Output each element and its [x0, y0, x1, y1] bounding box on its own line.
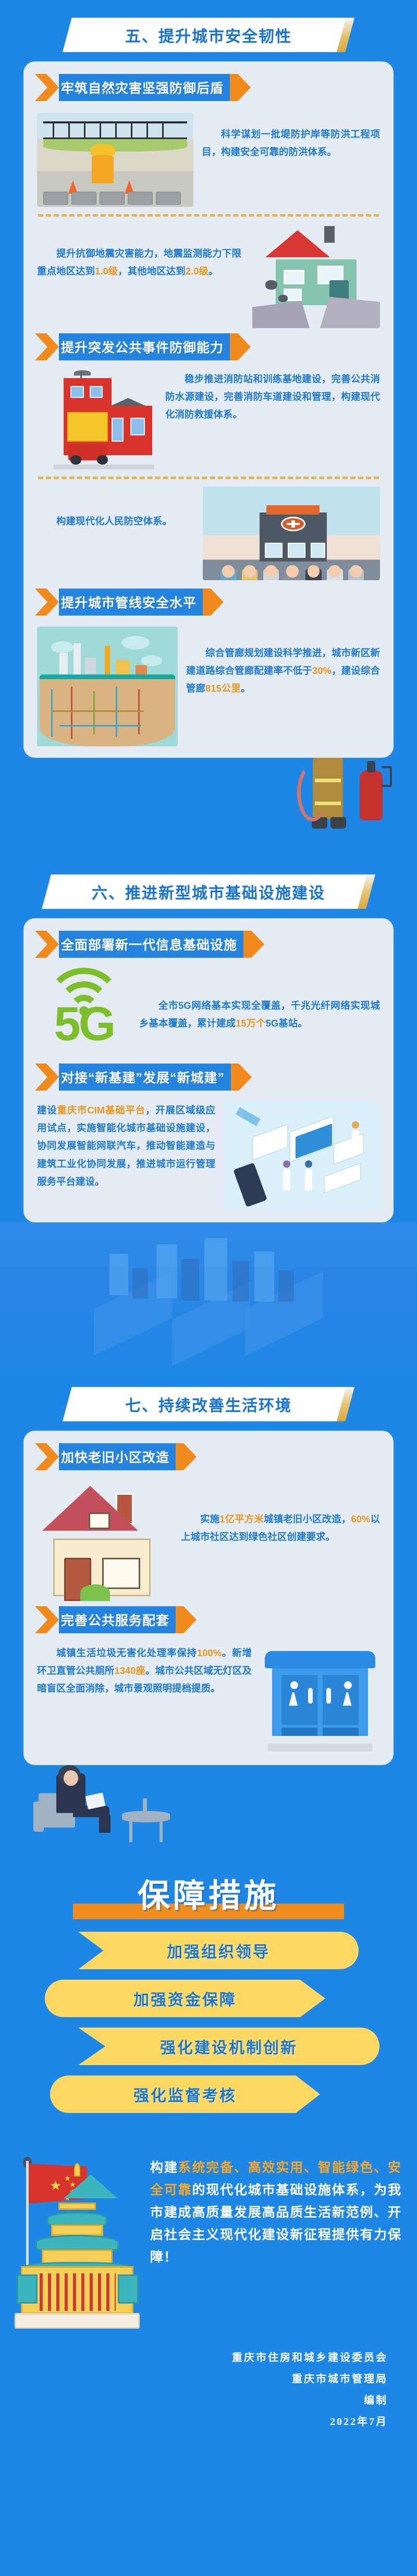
- figure: [283, 1169, 290, 1190]
- sandbag: [156, 192, 181, 205]
- subsection-bar: 提升城市管线安全水平: [59, 589, 204, 616]
- civil-defense-illustration: [203, 486, 380, 580]
- fire-station-illustration: [37, 370, 157, 469]
- entrance-step: [267, 1744, 373, 1752]
- truck-wheel: [97, 455, 108, 464]
- rail-post: [53, 121, 54, 137]
- flood-text: 科学谋划一批堤防护岸等防洪工程项目，构建安全可靠的防洪体系。: [202, 113, 380, 161]
- extinguisher-handle: [381, 766, 392, 787]
- person-lower-leg: [99, 1813, 111, 1833]
- truck-wheel: [70, 455, 81, 464]
- card-section-6: 全面部署新一代信息基础设施 5G 全市5G网络基本实现全覆盖，千兆光纤网络实现城…: [23, 918, 394, 1222]
- lamp-icon: [74, 370, 91, 376]
- hall-wing-left: [17, 2274, 38, 2304]
- crowd-person-head: [286, 565, 299, 577]
- block-earthquake: 提升抗御地震灾害能力，地震监测能力下限重点地区达到1.0级，其他地区达到2.0级…: [23, 224, 394, 328]
- falling-rock: [265, 280, 277, 290]
- chevron-left-icon: [35, 931, 59, 958]
- cloud: [121, 636, 150, 649]
- pipeline-hl-a: 30%: [312, 665, 332, 676]
- center-roof-accent: [266, 505, 320, 515]
- bush-icon: [80, 1584, 110, 1601]
- armchair-arm: [33, 1802, 44, 1832]
- window: [130, 418, 145, 435]
- chevron-right-icon: [243, 931, 264, 958]
- city-building: [156, 1244, 177, 1298]
- roof-tier: [51, 2224, 103, 2236]
- block-renovation: 实施1亿平方米城镇老旧小区改造，60%以上城市社区达到绿色社区创建要求。: [23, 1481, 394, 1601]
- renovation-text-a: 实施: [200, 1514, 219, 1524]
- block-fire: 稳步推进消防站和训练基地建设，完善公共消防水源建设，完善消防车道建设和管理，构建…: [23, 370, 394, 469]
- accent-strip: [281, 1728, 317, 1736]
- section-title-6: 六、推进新型城市基础设施建设: [92, 880, 325, 903]
- figure: [352, 1130, 359, 1150]
- chevron-left-icon: [35, 1064, 59, 1091]
- fire-hose-icon: [297, 764, 328, 821]
- footer-line-4: 2022年7月: [0, 2411, 388, 2433]
- upper-eave: [47, 2212, 107, 2225]
- subsection-title-pipeline-safety: 提升城市管线安全水平: [61, 593, 197, 611]
- worker-helmet-icon: [90, 144, 115, 155]
- sanitation-text: 城镇生活垃圾无害化处理率保持100%。新增环卫直管公共厕所1340座。城市公共区…: [37, 1644, 252, 1698]
- firefighter-boot: [330, 817, 346, 829]
- footer-attribution: 重庆市住房和城乡建设委员会 重庆市城市管理局 编制 2022年7月: [0, 2334, 417, 2458]
- door-window: [112, 418, 124, 442]
- closing-text-a: 构建: [150, 2160, 178, 2175]
- chevron-left-icon: [35, 333, 59, 360]
- smartphone-icon: [233, 1162, 267, 1207]
- fire-extinguisher-icon: [360, 770, 383, 820]
- subsection-title-old-community: 加快老旧小区改造: [61, 1447, 169, 1466]
- pipe: [51, 689, 53, 737]
- public-toilet-illustration: [260, 1644, 380, 1754]
- measures-list: 强化监督考核: [0, 2075, 417, 2113]
- subsection-header-new-urban: 对接“新基建”发展“新城建”: [35, 1064, 252, 1091]
- cloud: [141, 655, 163, 666]
- table-leg: [160, 1819, 163, 1842]
- footer-line-3: 编制: [0, 2390, 388, 2411]
- block-cim: 建设重庆市CIM基础平台，开展区域级应用试点，实施智能化城市基础设施建设，协同发…: [23, 1102, 394, 1211]
- measure-ribbon-2[interactable]: 加强资金保障: [45, 1980, 325, 2017]
- chevron-left-icon: [35, 74, 59, 101]
- rail-post: [115, 121, 117, 137]
- section-header-5: 五、提升城市安全韧性: [63, 18, 354, 52]
- figure-head: [283, 1160, 290, 1168]
- subsection-header-disaster-defense: 牢筑自然灾害坚强防御后盾: [35, 74, 251, 101]
- pipe: [59, 725, 141, 727]
- earthquake-text-c: 。: [208, 266, 218, 277]
- subsection-header-public-service: 完善公共服务配套: [35, 1606, 197, 1633]
- window: [90, 386, 103, 398]
- sandbag: [128, 192, 153, 205]
- subsection-title-info-infra: 全面部署新一代信息基础设施: [61, 935, 237, 954]
- 5g-hl-a: 15万个: [236, 1018, 266, 1029]
- section-title-5: 五、提升城市安全韧性: [125, 23, 292, 46]
- cim-platform-illustration: [224, 1102, 380, 1211]
- figure-head: [352, 1121, 359, 1129]
- rail-post: [68, 121, 70, 137]
- person-head: [64, 1770, 78, 1786]
- crowd-person-head: [350, 565, 362, 577]
- figure-male-icon: [308, 1688, 313, 1704]
- section-gap: [0, 1379, 417, 1387]
- window: [288, 543, 305, 558]
- figure-head: [305, 1160, 312, 1168]
- city-building: [204, 1238, 227, 1300]
- hall-wing-right: [118, 2274, 139, 2304]
- sandbag: [43, 192, 68, 205]
- flag-and-great-hall-illustration: ★ ★ ★ ★ ★: [13, 2157, 143, 2329]
- block-5g: 5G 全市5G网络基本实现全覆盖，千兆光纤网络实现城乡基本覆盖，累计建成15万个…: [23, 968, 394, 1056]
- chevron-right-icon: [176, 1443, 197, 1470]
- measure-label-2: 加强资金保障: [133, 1987, 237, 2010]
- falling-rock: [278, 295, 288, 302]
- cim-hl-a: 重庆市CIM基础平台: [57, 1105, 145, 1116]
- smart-city-isometric-banner: [0, 1222, 417, 1379]
- renovation-hl-b: 60%: [351, 1514, 370, 1524]
- window: [70, 386, 83, 398]
- top-spacer: [0, 0, 417, 18]
- measures-list: 加强组织领导: [0, 1932, 417, 1969]
- section-header-6: 六、推进新型城市基础设施建设: [42, 874, 375, 909]
- railing-bottom: [43, 137, 187, 139]
- window: [311, 543, 325, 558]
- pipeline-text-c: 。: [241, 683, 251, 694]
- chevron-right-icon: [203, 589, 224, 616]
- roof-tier: [58, 2203, 96, 2210]
- ground-base: [54, 465, 154, 470]
- closing-block: ★ ★ ★ ★ ★ 构建系统完备、高效实用、智能绿色、安全可靠的现代化城市基础设…: [0, 2141, 417, 2334]
- earthquake-hl-b: 2.0级: [186, 266, 208, 277]
- divider-dashed: [38, 214, 379, 217]
- block-pipeline: 综合管廊规划建设科学推进，城市新区新建道路综合管廊配建率不低于30%，建设综合管…: [23, 627, 394, 746]
- sanitation-hl-a: 100%: [197, 1647, 222, 1658]
- cloud: [51, 641, 73, 653]
- glass-stem: [143, 1798, 147, 1813]
- closing-statement: 构建系统完备、高效实用、智能绿色、安全可靠的现代化城市基础设施体系，为我市建成高…: [150, 2157, 401, 2269]
- pipe: [51, 710, 144, 712]
- renovation-hl-a: 1亿平方米: [219, 1514, 264, 1524]
- figure-male-icon: [326, 1688, 331, 1704]
- subsection-title-public-service: 完善公共服务配套: [61, 1610, 169, 1629]
- section-header-7: 七、持续改善生活环境: [63, 1387, 354, 1421]
- subsection-bar: 加快老旧小区改造: [59, 1443, 177, 1470]
- sanitation-hl-b: 1340座: [114, 1665, 145, 1676]
- garage-door: [67, 412, 108, 442]
- sandbag: [71, 192, 96, 205]
- earthquake-text-b: ，其他地区达到: [118, 266, 186, 277]
- chevron-right-icon: [230, 74, 251, 101]
- server-stack: [252, 1123, 288, 1160]
- ground-right-fracture: [320, 297, 380, 328]
- subsection-header-info-infra: 全面部署新一代信息基础设施: [35, 931, 264, 958]
- pipeline-hl-b: 815公里: [205, 683, 241, 694]
- subsection-bar: 完善公共服务配套: [59, 1606, 177, 1633]
- red-roof: [265, 230, 330, 257]
- ground-left-fracture: [252, 301, 310, 328]
- figure-head-female: [290, 1681, 298, 1689]
- rail-post: [100, 121, 101, 137]
- cim-text-b: ，开展区域级应用试点，实施智能化城市基础设施建设，协同发展智能网联汽车，推动智能…: [37, 1105, 215, 1187]
- 5g-text: 全市5G网络基本实现全覆盖，千兆光纤网络实现城乡基本覆盖，累计建成15万个5G基…: [139, 992, 380, 1032]
- cracked-house-illustration: [250, 224, 380, 328]
- window: [102, 1558, 140, 1589]
- subsection-bar: 全面部署新一代信息基础设施: [59, 931, 244, 958]
- flag-star-large: ★: [50, 2179, 62, 2192]
- cim-text: 建设重庆市CIM基础平台，开展区域级应用试点，实施智能化城市基础设施建设，协同发…: [37, 1102, 215, 1191]
- hall-pillars: [40, 2273, 116, 2311]
- extinguisher-nozzle: [367, 761, 375, 772]
- hall-base: [15, 2313, 140, 2329]
- 5g-text-b: 5G基站。: [266, 1018, 308, 1029]
- measures-list: 加强资金保障: [0, 1980, 417, 2017]
- pipeline-text: 综合管廊规划建设科学推进，城市新区新建道路综合管廊配建率不低于30%，建设综合管…: [186, 627, 380, 698]
- chevron-left-icon: [35, 589, 59, 616]
- card-section-7: 加快老旧小区改造 实施1亿平方米城镇老旧小区改造，60%以上城市社区达到绿色社区…: [23, 1431, 394, 1765]
- sandbag: [100, 192, 125, 205]
- reading-person-illustration: [0, 1765, 417, 1854]
- subsection-title-new-urban: 对接“新基建”发展“新城建”: [61, 1068, 225, 1086]
- window: [265, 543, 283, 558]
- measure-label-3: 强化建设机制创新: [160, 2035, 298, 2058]
- section-gap: [0, 857, 417, 874]
- pipe: [93, 691, 95, 734]
- rail-post: [162, 121, 164, 137]
- window: [284, 270, 304, 284]
- measures-list: 强化建设机制创新: [0, 2028, 417, 2065]
- subsection-title-disaster-defense: 牢筑自然灾害坚强防御后盾: [61, 78, 224, 97]
- chevron-right-icon: [230, 333, 251, 360]
- measure-ribbon-3[interactable]: 强化建设机制创新: [78, 2028, 379, 2065]
- earthquake-text: 提升抗御地震灾害能力，地震监测能力下限重点地区达到1.0级，其他地区达到2.0级…: [37, 224, 241, 280]
- sanitation-text-a: 城镇生活垃圾无害化处理率保持: [56, 1647, 197, 1658]
- renovation-text: 实施1亿平方米城镇老旧小区改造，60%以上城市社区达到绿色社区创建要求。: [181, 1481, 380, 1546]
- measure-label-4: 强化监督考核: [133, 2083, 237, 2106]
- crowd-person-head: [328, 565, 341, 577]
- footer-line-2: 重庆市城市管理局: [0, 2369, 388, 2390]
- section-title-7: 七、持续改善生活环境: [125, 1393, 292, 1416]
- subsection-title-public-emergency: 提升突发公共事件防御能力: [61, 337, 224, 356]
- flagpole: [26, 2161, 29, 2281]
- earthquake-hl-a: 1.0级: [95, 266, 118, 277]
- attic-window: [89, 1512, 111, 1529]
- city-building: [132, 1268, 148, 1298]
- figure: [305, 1169, 312, 1190]
- guarantee-title: 保障措施: [138, 1869, 279, 1916]
- rail-post: [131, 121, 132, 137]
- measure-label-1: 加强组织领导: [167, 1939, 270, 1962]
- divider-dashed: [38, 477, 379, 479]
- footer-line-1: 重庆市住房和城乡建设委员会: [0, 2347, 388, 2369]
- city-building: [278, 1270, 294, 1302]
- civil-defense-text: 构建现代化人民防空体系。: [37, 486, 194, 530]
- table-leg: [129, 1819, 132, 1842]
- subsection-bar: 牢筑自然灾害坚强防御后盾: [59, 74, 231, 101]
- cim-text-a: 建设: [37, 1105, 57, 1116]
- subsection-header-public-emergency: 提升突发公共事件防御能力: [35, 333, 251, 360]
- renovation-text-b: 城镇老旧小区改造，: [264, 1514, 351, 1524]
- guarantee-title-block: 保障措施: [0, 1854, 417, 1932]
- pagoda-dome: [64, 2174, 118, 2198]
- city-building: [109, 1254, 128, 1295]
- measure-ribbon-4[interactable]: 强化监督考核: [50, 2075, 320, 2113]
- rail-post: [84, 121, 85, 137]
- satellite-icon: [236, 1107, 261, 1127]
- infographic-page: 五、提升城市安全韧性 牢筑自然灾害坚强防御后盾: [0, 0, 417, 2576]
- closing-gap: [0, 2123, 417, 2141]
- soil-cross-section: [40, 679, 175, 746]
- building: [203, 528, 217, 580]
- pipe: [71, 686, 72, 739]
- block-sanitation: 城镇生活垃圾无害化处理率保持100%。新增环卫直管公共厕所1340座。城市公共区…: [23, 1644, 394, 1754]
- crowd-person-head: [243, 565, 256, 577]
- block-flood: 科学谋划一批堤防护岸等防洪工程项目，构建安全可靠的防洪体系。: [23, 113, 394, 207]
- moss-layer: [43, 139, 187, 151]
- crowd-person-head: [265, 565, 277, 577]
- worker-body: [92, 155, 114, 183]
- crowd-person-head: [222, 565, 235, 577]
- 5g-wordmark: 5G: [37, 997, 131, 1052]
- card-section-5: 牢筑自然灾害坚强防御后盾: [23, 61, 394, 758]
- subsection-header-old-community: 加快老旧小区改造: [35, 1443, 197, 1470]
- subsection-bar: 对接“新基建”发展“新城建”: [59, 1064, 232, 1091]
- chevron-right-icon: [176, 1606, 197, 1633]
- city-building: [232, 1261, 249, 1302]
- panel: [333, 1133, 364, 1165]
- subsection-bar: 提升突发公共事件防御能力: [59, 333, 231, 360]
- flood-embankment-illustration: [37, 113, 193, 207]
- city-building: [181, 1259, 199, 1300]
- chevron-left-icon: [35, 1606, 59, 1633]
- underground-pipeline-illustration: [37, 627, 178, 746]
- accent-strip: [323, 1728, 359, 1736]
- panel: [324, 1162, 361, 1194]
- fire-text: 稳步推进消防站和训练基地建设，完善公共消防水源建设，完善消防车道建设和管理，构建…: [165, 370, 380, 424]
- 5g-signal-logo: 5G: [37, 968, 131, 1056]
- subsection-header-pipeline-safety: 提升城市管线安全水平: [35, 589, 224, 616]
- toilet-roof: [265, 1651, 375, 1669]
- crowd-person-head: [308, 565, 320, 577]
- old-house-illustration: [37, 1481, 173, 1601]
- middle-eave: [35, 2235, 119, 2250]
- rail-post: [146, 121, 148, 137]
- chevron-right-icon: [231, 1064, 252, 1091]
- smokestack: [73, 643, 81, 679]
- measure-ribbon-1[interactable]: 加强组织领导: [78, 1932, 359, 1969]
- block-civil-defense: 构建现代化人民防空体系。: [23, 486, 394, 580]
- city-building: [254, 1252, 274, 1302]
- firefighter-illustration: [0, 758, 417, 857]
- building: [203, 486, 220, 528]
- chevron-left-icon: [35, 1443, 59, 1470]
